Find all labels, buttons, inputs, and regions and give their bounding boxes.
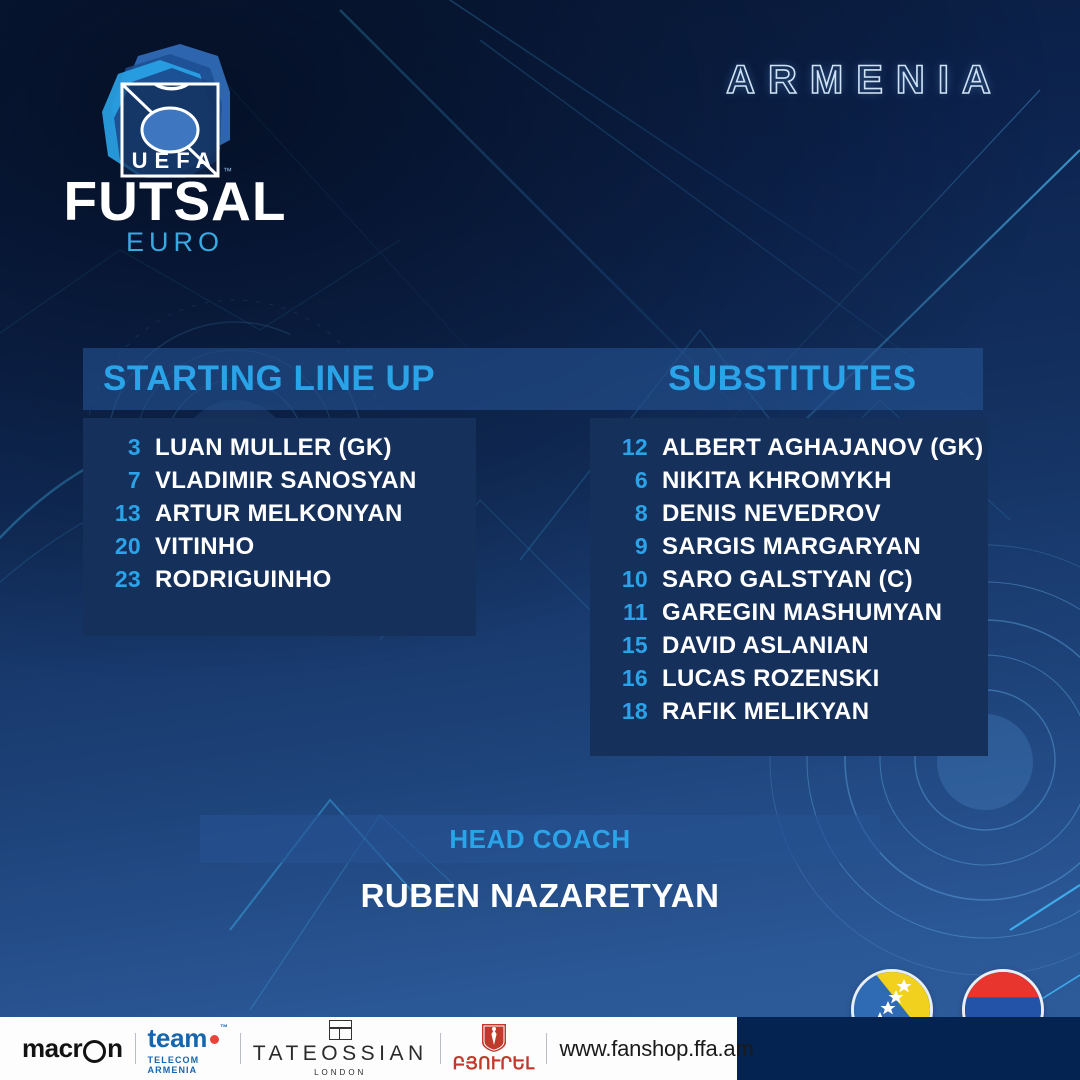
player-row: 15DAVID ASLANIAN [590, 632, 988, 665]
player-number: 20 [83, 533, 141, 560]
ffa-name: ԲՅՈՒՐԵԼ [453, 1054, 535, 1074]
player-name: RAFIK MELIKYAN [662, 698, 869, 726]
player-row: 9SARGIS MARGARYAN [590, 533, 988, 566]
sponsor-ffa-logo: ԲՅՈՒՐԵԼ [453, 1023, 535, 1074]
substitutes-list: 12ALBERT AGHAJANOV (GK)6NIKITA KHROMYKH8… [590, 434, 988, 731]
player-name: LUAN MULLER (GK) [155, 434, 392, 462]
team-tm-icon: ™ [220, 1023, 228, 1032]
team-text: team [148, 1023, 208, 1054]
player-row: 6NIKITA KHROMYKH [590, 467, 988, 500]
player-row: 23RODRIGUINHO [83, 566, 476, 599]
player-name: VLADIMIR SANOSYAN [155, 467, 417, 495]
head-coach-banner: HEAD COACH [200, 815, 880, 863]
logo-uefa-text: UEFA [60, 150, 290, 172]
player-number: 7 [83, 467, 141, 494]
player-number: 11 [590, 599, 648, 626]
player-name: NIKITA KHROMYKH [662, 467, 892, 495]
sponsor-divider [240, 1033, 241, 1064]
starting-lineup-list: 3LUAN MULLER (GK)7VLADIMIR SANOSYAN13ART… [83, 434, 476, 599]
player-name: LUCAS ROZENSKI [662, 665, 880, 693]
logo-wordmark: UEFA FUTSAL EURO [60, 150, 290, 260]
player-row: 16LUCAS ROZENSKI [590, 665, 988, 698]
player-name: ALBERT AGHAJANOV (GK) [662, 434, 983, 462]
substitutes-panel: 12ALBERT AGHAJANOV (GK)6NIKITA KHROMYKH8… [590, 418, 988, 756]
starting-lineup-panel: 3LUAN MULLER (GK)7VLADIMIR SANOSYAN13ART… [83, 418, 476, 636]
starting-lineup-title: STARTING LINE UP [103, 359, 435, 399]
sponsor-bar: macrn team™ TELECOM ARMENIA TATEOSSIAN L… [0, 1017, 737, 1080]
player-number: 3 [83, 434, 141, 461]
tateossian-name: TATEOSSIAN [253, 1042, 428, 1066]
team-subtitle: TELECOM ARMENIA [148, 1055, 228, 1075]
sponsor-divider [440, 1033, 441, 1064]
macron-text-part2: n [107, 1033, 122, 1064]
player-name: SARO GALSTYAN (C) [662, 566, 913, 594]
head-coach-title: HEAD COACH [449, 824, 630, 855]
player-number: 9 [590, 533, 648, 560]
sponsor-macron-logo: macrn [22, 1033, 123, 1064]
player-number: 18 [590, 698, 648, 725]
player-name: DAVID ASLANIAN [662, 632, 869, 660]
substitutes-title-wrap: SUBSTITUTES [668, 348, 917, 410]
player-name: VITINHO [155, 533, 254, 561]
sponsor-divider [546, 1033, 547, 1064]
player-row: 13ARTUR MELKONYAN [83, 500, 476, 533]
lineup-graphic: ARMENIA ™ UEFA FUTSAL EURO STARTING LINE… [0, 0, 1080, 1080]
sponsor-tateossian-logo: TATEOSSIAN LONDON [253, 1020, 428, 1077]
player-number: 13 [83, 500, 141, 527]
player-row: 11GAREGIN MASHUMYAN [590, 599, 988, 632]
fanshop-url: www.fanshop.ffa.am [559, 1036, 753, 1062]
player-number: 10 [590, 566, 648, 593]
substitutes-title: SUBSTITUTES [668, 359, 917, 399]
player-number: 6 [590, 467, 648, 494]
sponsor-divider [135, 1033, 136, 1064]
player-name: ARTUR MELKONYAN [155, 500, 403, 528]
player-number: 8 [590, 500, 648, 527]
head-coach-name: RUBEN NAZARETYAN [200, 872, 880, 920]
player-number: 16 [590, 665, 648, 692]
player-name: RODRIGUINHO [155, 566, 332, 594]
logo-futsal-text: FUTSAL [60, 175, 290, 227]
ffa-crest-icon [481, 1023, 507, 1053]
player-number: 15 [590, 632, 648, 659]
sponsor-team-telecom-logo: team™ TELECOM ARMENIA [148, 1023, 228, 1075]
player-name: GAREGIN MASHUMYAN [662, 599, 942, 627]
player-row: 8DENIS NEVEDROV [590, 500, 988, 533]
player-number: 12 [590, 434, 648, 461]
macron-o-icon [83, 1040, 106, 1063]
player-number: 23 [83, 566, 141, 593]
player-row: 20VITINHO [83, 533, 476, 566]
tateossian-window-icon [329, 1020, 352, 1040]
player-row: 10SARO GALSTYAN (C) [590, 566, 988, 599]
player-row: 7VLADIMIR SANOSYAN [83, 467, 476, 500]
player-row: 18RAFIK MELIKYAN [590, 698, 988, 731]
player-row: 3LUAN MULLER (GK) [83, 434, 476, 467]
country-title: ARMENIA [700, 52, 1030, 108]
tateossian-subtitle: LONDON [314, 1068, 366, 1077]
player-name: DENIS NEVEDROV [662, 500, 881, 528]
team-dot-icon [210, 1035, 219, 1044]
player-row: 12ALBERT AGHAJANOV (GK) [590, 434, 988, 467]
player-name: SARGIS MARGARYAN [662, 533, 921, 561]
logo-euro-text: EURO [60, 228, 290, 256]
team-wordmark: team™ [148, 1023, 228, 1054]
macron-text-part1: macr [22, 1033, 82, 1064]
